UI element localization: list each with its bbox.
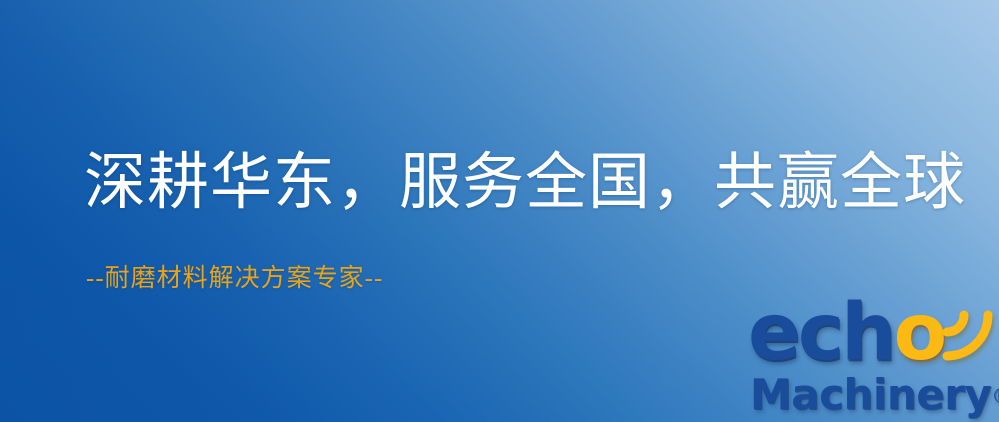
logo-tagline-text: Machinery <box>750 370 991 419</box>
company-logo[interactable]: ech o Machinery® <box>748 296 999 422</box>
hero-banner: 深耕华东，服务全国，共赢全球 --耐磨材料解决方案专家-- ech o <box>0 0 999 422</box>
logo-brand-text: ech <box>748 296 894 370</box>
registered-trademark-icon: ® <box>991 384 999 408</box>
banner-headline: 深耕华东，服务全国，共赢全球 <box>84 152 966 214</box>
signal-waves-icon <box>926 294 999 370</box>
logo-tagline: Machinery® <box>750 372 999 419</box>
logo-wordmark: ech o <box>748 296 944 370</box>
banner-subtitle: --耐磨材料解决方案专家-- <box>86 266 383 291</box>
